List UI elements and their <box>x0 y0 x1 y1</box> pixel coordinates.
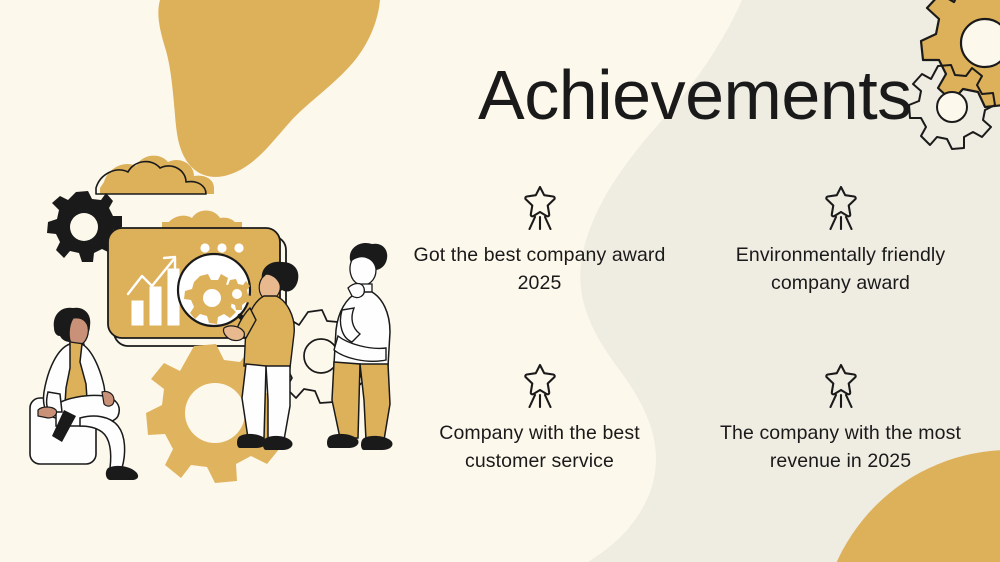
cloud-large-icon <box>96 156 214 194</box>
shooting-star-icon <box>520 362 560 408</box>
team-analytics-illustration <box>18 138 408 488</box>
person-thinking <box>327 243 393 450</box>
achievement-label: The company with the most revenue in 202… <box>711 420 971 475</box>
achievement-item-2: Environmentally friendly company award <box>701 178 980 340</box>
achievements-grid: Got the best company award 2025 Environm… <box>400 178 980 518</box>
window-dots <box>200 243 243 252</box>
slide-canvas: Achievements Got the best company award … <box>0 0 1000 562</box>
outline-gear-icon <box>909 65 995 149</box>
shooting-star-icon <box>821 184 861 230</box>
achievement-item-3: Company with the best customer service <box>400 356 679 518</box>
gold-gear-icon <box>921 0 1000 107</box>
page-title: Achievements <box>478 60 912 130</box>
achievement-label: Got the best company award 2025 <box>410 242 670 297</box>
achievement-item-4: The company with the most revenue in 202… <box>701 356 980 518</box>
shooting-star-icon <box>821 362 861 408</box>
achievement-item-1: Got the best company award 2025 <box>400 178 679 340</box>
shooting-star-icon <box>520 184 560 230</box>
achievement-label: Environmentally friendly company award <box>711 242 971 297</box>
achievement-label: Company with the best customer service <box>410 420 670 475</box>
